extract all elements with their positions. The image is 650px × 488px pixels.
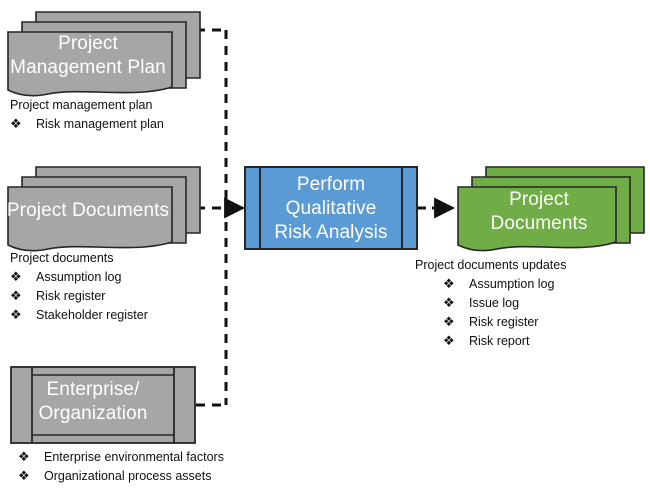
caption-project-management-plan: Project management plan ❖ Risk managemen… bbox=[10, 96, 225, 134]
caption-head: Project management plan bbox=[10, 96, 225, 115]
diamond-bullet-icon: ❖ bbox=[10, 286, 22, 305]
list-item: ❖ Risk register bbox=[443, 313, 650, 332]
list-item: ❖ Issue log bbox=[443, 294, 650, 313]
list-item: ❖ Risk register bbox=[10, 287, 225, 306]
list-item: ❖ Risk management plan bbox=[10, 115, 225, 134]
predefined-process-body bbox=[245, 167, 417, 249]
list-item-label: Risk register bbox=[36, 289, 105, 303]
diamond-bullet-icon: ❖ bbox=[10, 114, 22, 133]
multidoc-sheet-front bbox=[458, 187, 616, 251]
diamond-bullet-icon: ❖ bbox=[18, 447, 30, 466]
diamond-bullet-icon: ❖ bbox=[443, 274, 455, 293]
list-item-label: Risk management plan bbox=[36, 117, 164, 131]
caption-head: Project documents updates bbox=[415, 256, 650, 275]
caption-list: ❖ Assumption log ❖ Issue log ❖ Risk regi… bbox=[415, 275, 650, 351]
diamond-bullet-icon: ❖ bbox=[443, 312, 455, 331]
list-item-label: Risk report bbox=[469, 334, 529, 348]
list-item-label: Assumption log bbox=[36, 270, 121, 284]
caption-head: Project documents bbox=[10, 249, 225, 268]
shape-project-documents-updates[interactable] bbox=[454, 163, 650, 253]
caption-list: ❖ Enterprise environmental factors ❖ Org… bbox=[18, 448, 278, 486]
caption-list: ❖ Risk management plan bbox=[10, 115, 225, 134]
list-item: ❖ Assumption log bbox=[10, 268, 225, 287]
caption-list: ❖ Assumption log ❖ Risk register ❖ Stake… bbox=[10, 268, 225, 325]
shape-project-management-plan[interactable] bbox=[4, 8, 204, 98]
list-item: ❖ Risk report bbox=[443, 332, 650, 351]
diamond-bullet-icon: ❖ bbox=[443, 293, 455, 312]
list-item-label: Enterprise environmental factors bbox=[44, 450, 224, 464]
list-item: ❖ Organizational process assets bbox=[18, 467, 278, 486]
diamond-bullet-icon: ❖ bbox=[10, 305, 22, 324]
diamond-bullet-icon: ❖ bbox=[10, 267, 22, 286]
list-item-label: Assumption log bbox=[469, 277, 554, 291]
caption-project-documents-updates: Project documents updates ❖ Assumption l… bbox=[415, 256, 650, 351]
list-item: ❖ Enterprise environmental factors bbox=[18, 448, 278, 467]
list-item-label: Risk register bbox=[469, 315, 538, 329]
list-item: ❖ Stakeholder register bbox=[10, 306, 225, 325]
caption-project-documents: Project documents ❖ Assumption log ❖ Ris… bbox=[10, 249, 225, 325]
shape-project-documents[interactable] bbox=[4, 163, 204, 253]
internal-storage-body bbox=[11, 367, 195, 443]
diagram-canvas: Project Management Plan Project manageme… bbox=[0, 0, 650, 488]
diamond-bullet-icon: ❖ bbox=[18, 466, 30, 485]
multidoc-sheet-front bbox=[8, 187, 172, 251]
shape-enterprise-organization[interactable] bbox=[10, 366, 196, 444]
diamond-bullet-icon: ❖ bbox=[443, 331, 455, 350]
shape-perform-qualitative-risk-analysis[interactable] bbox=[244, 166, 418, 250]
multidoc-sheet-front bbox=[8, 32, 172, 96]
list-item: ❖ Assumption log bbox=[443, 275, 650, 294]
list-item-label: Organizational process assets bbox=[44, 469, 211, 483]
caption-enterprise-organization: ❖ Enterprise environmental factors ❖ Org… bbox=[18, 448, 278, 486]
list-item-label: Stakeholder register bbox=[36, 308, 148, 322]
list-item-label: Issue log bbox=[469, 296, 519, 310]
